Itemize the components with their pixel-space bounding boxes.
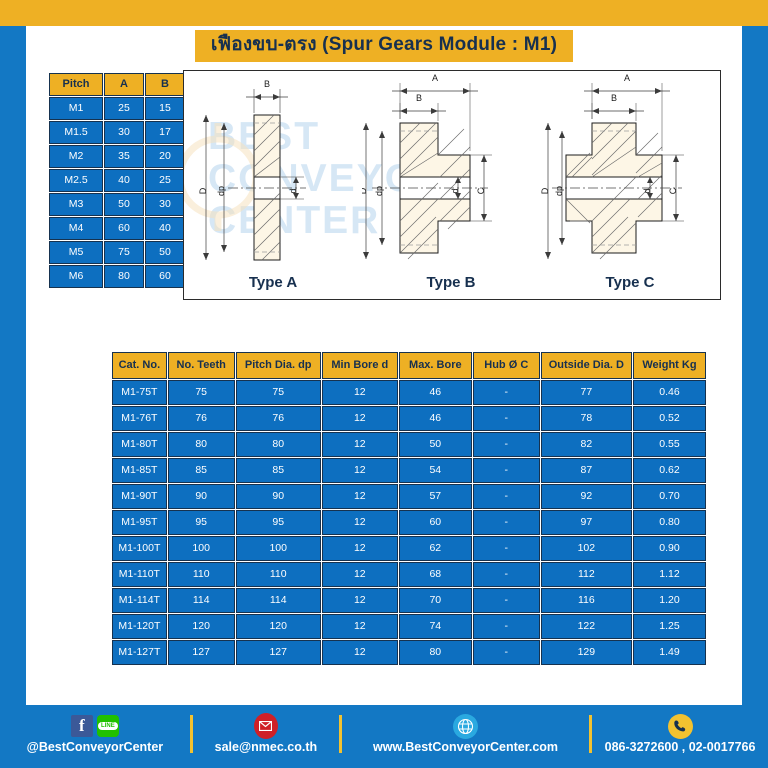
spec-cell: 80 — [168, 432, 235, 457]
spec-cell: 85 — [168, 458, 235, 483]
type-c-label: Type C — [540, 274, 720, 291]
spec-cell: 95 — [168, 510, 235, 535]
phone-icon[interactable] — [668, 714, 693, 739]
spec-header-cell: Hub Ø C — [473, 352, 540, 379]
pitch-table-row: M35030 — [49, 193, 185, 216]
gear-type-c-cell: A B D dp d C Type C — [540, 71, 720, 299]
top-decorative-stripes — [0, 0, 768, 26]
spec-cell: M1-100T — [112, 536, 167, 561]
svg-text:B: B — [416, 93, 422, 103]
email-text: sale@nmec.co.th — [215, 740, 318, 754]
spec-cell: 12 — [322, 458, 398, 483]
footer-email[interactable]: sale@nmec.co.th — [193, 705, 339, 762]
spec-cell: 74 — [399, 614, 472, 639]
table-row: M1-127T1271271280-1291.49 — [112, 640, 706, 665]
pitch-table-row: M1.53017 — [49, 121, 185, 144]
bottom-border-strip — [0, 762, 768, 768]
svg-text:d: d — [450, 188, 460, 193]
pitch-cell: 80 — [104, 265, 144, 288]
pitch-cell: 25 — [104, 97, 144, 120]
spec-header-cell: Weight Kg — [633, 352, 706, 379]
spec-cell: M1-127T — [112, 640, 167, 665]
spec-cell: M1-95T — [112, 510, 167, 535]
spec-cell: 0.62 — [633, 458, 706, 483]
page-sheet: เฟืองขบ-ตรง (Spur Gears Module : M1) Pit… — [26, 26, 742, 705]
pitch-cell: 20 — [145, 145, 185, 168]
footer-phone[interactable]: 086-3272600 , 02-0017766 — [592, 705, 768, 762]
pitch-table-row: M46040 — [49, 217, 185, 240]
svg-text:D: D — [540, 187, 550, 194]
title-banner-text: เฟืองขบ-ตรง (Spur Gears Module : M1) — [195, 30, 573, 62]
spec-cell: 0.70 — [633, 484, 706, 509]
table-row: M1-95T95951260-970.80 — [112, 510, 706, 535]
svg-text:dp: dp — [216, 186, 226, 196]
spec-cell: - — [473, 484, 540, 509]
spec-cell: 54 — [399, 458, 472, 483]
phone-text: 086-3272600 , 02-0017766 — [605, 740, 756, 754]
pitch-col-a: A — [104, 73, 144, 96]
spec-cell: 80 — [236, 432, 321, 457]
spec-cell: 68 — [399, 562, 472, 587]
line-icon[interactable]: LINE — [97, 715, 119, 737]
svg-text:A: A — [432, 73, 438, 83]
spec-cell: 75 — [168, 380, 235, 405]
facebook-icon[interactable]: f — [71, 715, 93, 737]
pitch-cell: 40 — [145, 217, 185, 240]
pitch-cell: M2 — [49, 145, 103, 168]
spec-cell: - — [473, 510, 540, 535]
spec-header-cell: Outside Dia. D — [541, 352, 632, 379]
spec-header-cell: No. Teeth — [168, 352, 235, 379]
spec-cell: 57 — [399, 484, 472, 509]
spec-cell: M1-75T — [112, 380, 167, 405]
spec-cell: 85 — [236, 458, 321, 483]
pitch-cell: M2.5 — [49, 169, 103, 192]
spec-cell: 1.49 — [633, 640, 706, 665]
spec-cell: 12 — [322, 406, 398, 431]
footer-social[interactable]: f LINE @BestConveyorCenter — [0, 705, 190, 762]
spec-cell: 82 — [541, 432, 632, 457]
spec-cell: 80 — [399, 640, 472, 665]
pitch-cell: 30 — [104, 121, 144, 144]
spec-cell: M1-120T — [112, 614, 167, 639]
mail-glyph — [259, 721, 272, 731]
svg-text:D: D — [198, 187, 208, 194]
spec-cell: - — [473, 380, 540, 405]
pitch-table-row: M23520 — [49, 145, 185, 168]
pitch-table-row: M57550 — [49, 241, 185, 264]
pitch-cell: M6 — [49, 265, 103, 288]
spec-cell: 90 — [168, 484, 235, 509]
table-row: M1-76T76761246-780.52 — [112, 406, 706, 431]
spec-cell: 112 — [541, 562, 632, 587]
globe-glyph — [457, 718, 474, 735]
spec-cell: 12 — [322, 588, 398, 613]
spec-cell: 120 — [168, 614, 235, 639]
spec-cell: 12 — [322, 536, 398, 561]
spec-cell: 95 — [236, 510, 321, 535]
spec-cell: 120 — [236, 614, 321, 639]
spec-cell: 116 — [541, 588, 632, 613]
table-row: M1-75T75751246-770.46 — [112, 380, 706, 405]
spec-header-cell: Pitch Dia. dp — [236, 352, 321, 379]
spec-cell: 114 — [168, 588, 235, 613]
gear-type-diagram-panel: BEST CONVEYOR CENTER — [183, 70, 721, 300]
spec-cell: 127 — [236, 640, 321, 665]
specification-table: Cat. No.No. TeethPitch Dia. dpMin Bore d… — [111, 351, 707, 666]
line-icon-label: LINE — [98, 722, 118, 730]
pitch-cell: M3 — [49, 193, 103, 216]
spec-cell: 122 — [541, 614, 632, 639]
gear-type-a-cell: B D dp d Type A — [184, 71, 362, 299]
spec-cell: - — [473, 432, 540, 457]
phone-glyph — [673, 719, 687, 733]
spec-cell: 46 — [399, 380, 472, 405]
spec-cell: 0.55 — [633, 432, 706, 457]
spec-cell: 110 — [236, 562, 321, 587]
table-row: M1-100T1001001262-1020.90 — [112, 536, 706, 561]
pitch-table-row: M12515 — [49, 97, 185, 120]
pitch-cell: 15 — [145, 97, 185, 120]
spec-cell: 62 — [399, 536, 472, 561]
pitch-cell: M4 — [49, 217, 103, 240]
pitch-reference-table: Pitch A B M12515M1.53017M23520M2.54025M3… — [48, 72, 186, 289]
globe-icon[interactable] — [453, 714, 478, 739]
spec-cell: 12 — [322, 562, 398, 587]
spec-cell: 76 — [236, 406, 321, 431]
spec-cell: 1.25 — [633, 614, 706, 639]
spec-cell: 1.20 — [633, 588, 706, 613]
pitch-header-row: Pitch A B — [49, 73, 185, 96]
spec-cell: - — [473, 536, 540, 561]
spec-cell: M1-90T — [112, 484, 167, 509]
pitch-cell: M1.5 — [49, 121, 103, 144]
svg-text:D: D — [362, 187, 368, 194]
table-row: M1-120T1201201274-1221.25 — [112, 614, 706, 639]
spec-cell: 12 — [322, 640, 398, 665]
spec-cell: - — [473, 458, 540, 483]
spec-cell: 12 — [322, 380, 398, 405]
footer-website[interactable]: www.BestConveyorCenter.com — [342, 705, 589, 762]
spec-cell: M1-76T — [112, 406, 167, 431]
pitch-cell: 75 — [104, 241, 144, 264]
spec-cell: 78 — [541, 406, 632, 431]
pitch-cell: M1 — [49, 97, 103, 120]
spec-header-cell: Max. Bore — [399, 352, 472, 379]
spec-header-cell: Cat. No. — [112, 352, 167, 379]
type-b-label: Type B — [362, 274, 540, 291]
pitch-col-b: B — [145, 73, 185, 96]
social-handle-text: @BestConveyorCenter — [27, 740, 164, 754]
svg-text:C: C — [476, 187, 486, 194]
spec-cell: 46 — [399, 406, 472, 431]
spec-cell: M1-110T — [112, 562, 167, 587]
pitch-cell: 50 — [145, 241, 185, 264]
table-row: M1-80T80801250-820.55 — [112, 432, 706, 457]
spec-cell: 70 — [399, 588, 472, 613]
pitch-cell: 60 — [145, 265, 185, 288]
svg-text:C: C — [668, 187, 678, 194]
spec-cell: 12 — [322, 510, 398, 535]
contact-footer: f LINE @BestConveyorCenter sale@nmec.co.… — [0, 705, 768, 762]
spec-cell: 0.52 — [633, 406, 706, 431]
pitch-cell: 35 — [104, 145, 144, 168]
spec-cell: M1-114T — [112, 588, 167, 613]
table-row: M1-90T90901257-920.70 — [112, 484, 706, 509]
spec-cell: 100 — [168, 536, 235, 561]
table-row: M1-110T1101101268-1121.12 — [112, 562, 706, 587]
pitch-cell: 17 — [145, 121, 185, 144]
svg-text:d: d — [642, 188, 652, 193]
spec-cell: - — [473, 562, 540, 587]
svg-text:A: A — [624, 73, 630, 83]
page-title: เฟืองขบ-ตรง (Spur Gears Module : M1) — [26, 30, 742, 62]
svg-text:B: B — [611, 93, 617, 103]
pitch-cell: 25 — [145, 169, 185, 192]
spec-cell: 12 — [322, 484, 398, 509]
website-text: www.BestConveyorCenter.com — [373, 740, 558, 754]
spec-header-cell: Min Bore d — [322, 352, 398, 379]
spec-cell: 1.12 — [633, 562, 706, 587]
table-row: M1-114T1141141270-1161.20 — [112, 588, 706, 613]
spec-cell: 0.90 — [633, 536, 706, 561]
spec-cell: 77 — [541, 380, 632, 405]
svg-text:B: B — [264, 79, 270, 89]
spec-cell: 0.80 — [633, 510, 706, 535]
spec-cell: 92 — [541, 484, 632, 509]
svg-text:dp: dp — [374, 186, 384, 196]
pitch-cell: M5 — [49, 241, 103, 264]
spec-cell: 129 — [541, 640, 632, 665]
table-row: M1-85T85851254-870.62 — [112, 458, 706, 483]
spec-cell: 90 — [236, 484, 321, 509]
pitch-cell: 30 — [145, 193, 185, 216]
spec-cell: 110 — [168, 562, 235, 587]
spec-cell: 12 — [322, 614, 398, 639]
specification-table-wrapper: Cat. No.No. TeethPitch Dia. dpMin Bore d… — [111, 351, 707, 666]
spec-cell: 87 — [541, 458, 632, 483]
spec-cell: M1-85T — [112, 458, 167, 483]
spec-cell: 75 — [236, 380, 321, 405]
svg-text:d: d — [288, 188, 298, 193]
pitch-table-row: M2.54025 — [49, 169, 185, 192]
spec-cell: 0.46 — [633, 380, 706, 405]
pitch-cell: 40 — [104, 169, 144, 192]
spec-cell: 102 — [541, 536, 632, 561]
pitch-table-row: M68060 — [49, 265, 185, 288]
pitch-cell: 60 — [104, 217, 144, 240]
mail-icon[interactable] — [254, 713, 278, 739]
type-a-label: Type A — [184, 274, 362, 291]
spec-cell: 114 — [236, 588, 321, 613]
type-b-drawing: A B D dp d C — [362, 73, 540, 273]
spec-cell: - — [473, 614, 540, 639]
pitch-col-pitch: Pitch — [49, 73, 103, 96]
spec-cell: - — [473, 640, 540, 665]
spec-cell: 97 — [541, 510, 632, 535]
pitch-cell: 50 — [104, 193, 144, 216]
spec-cell: 76 — [168, 406, 235, 431]
spec-cell: - — [473, 406, 540, 431]
spec-cell: 50 — [399, 432, 472, 457]
type-a-drawing: B D dp d — [184, 73, 362, 273]
gear-type-b-cell: A B D dp d C Type B — [362, 71, 540, 299]
spec-cell: M1-80T — [112, 432, 167, 457]
spec-cell: 100 — [236, 536, 321, 561]
svg-text:dp: dp — [554, 186, 564, 196]
spec-cell: 60 — [399, 510, 472, 535]
spec-cell: - — [473, 588, 540, 613]
spec-cell: 12 — [322, 432, 398, 457]
spec-cell: 127 — [168, 640, 235, 665]
spec-header-row: Cat. No.No. TeethPitch Dia. dpMin Bore d… — [112, 352, 706, 379]
type-c-drawing: A B D dp d C — [540, 73, 720, 273]
